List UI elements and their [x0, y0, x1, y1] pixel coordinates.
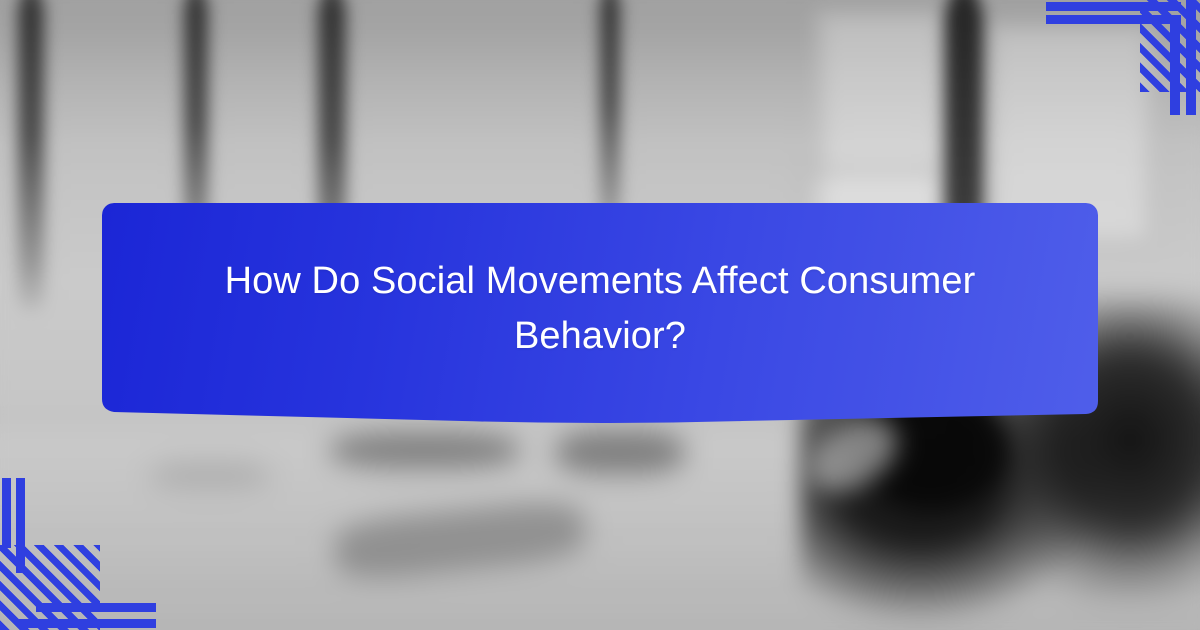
corner-bracket-top-right: [1040, 0, 1200, 120]
corner-bar-v-3-top-right: [1186, 0, 1196, 24]
corner-bar-h-1-top-right: [1046, 2, 1181, 11]
corner-bar-v-1-bottom-left: [2, 478, 11, 548]
corner-bar-v-2-top-right: [1186, 24, 1196, 115]
page-title: How Do Social Movements Affect Consumer …: [102, 228, 1098, 399]
corner-bar-h-2-bottom-left: [18, 619, 156, 628]
corner-bracket-bottom-left: [0, 470, 170, 630]
corner-bar-v-1-top-right: [1170, 24, 1180, 115]
corner-hatch-bottom-left: [0, 545, 100, 630]
corner-bar-h-2-top-right: [1046, 15, 1181, 24]
corner-bar-v-2-bottom-left: [16, 478, 25, 573]
corner-bar-h-1-bottom-left: [36, 603, 156, 612]
banner-root: How Do Social Movements Affect Consumer …: [0, 0, 1200, 630]
headline-card: How Do Social Movements Affect Consumer …: [102, 203, 1098, 425]
